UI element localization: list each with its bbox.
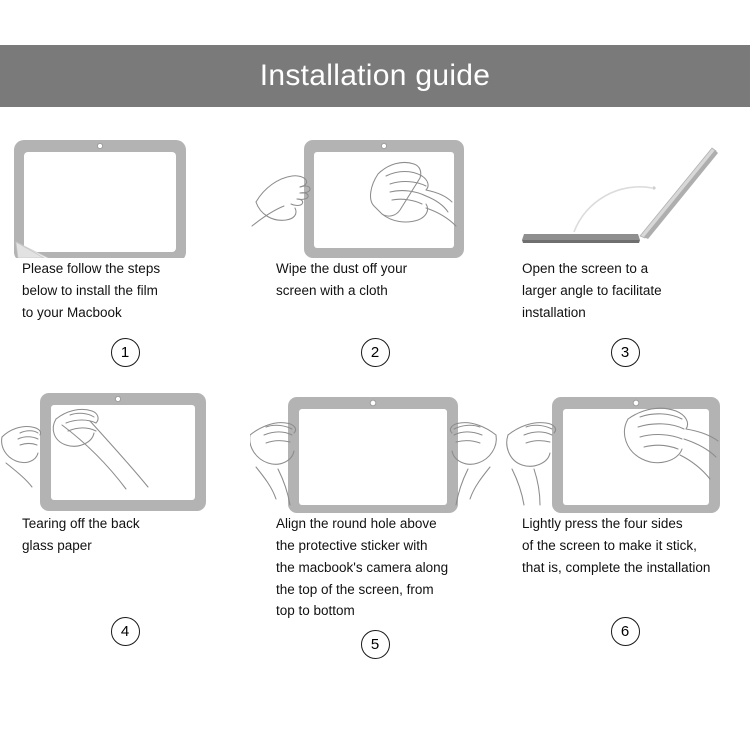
step-number-badge-3: 3: [611, 338, 640, 367]
step-1-caption: Please follow the steps below to install…: [0, 258, 168, 328]
step-4-illustration: [0, 385, 250, 513]
step-3-caption: Open the screen to a larger angle to fac…: [500, 258, 670, 328]
step-number-badge-5: 5: [361, 630, 390, 659]
step-card-5: Align the round hole above the protectiv…: [250, 385, 500, 659]
step-4-caption: Tearing off the back glass paper: [0, 513, 148, 609]
step-2-number-wrap: 2: [250, 338, 500, 367]
step-number-badge-2: 2: [361, 338, 390, 367]
step-6-number-wrap: 6: [500, 617, 750, 646]
step-3-number-wrap: 3: [500, 338, 750, 367]
step-card-4: Tearing off the back glass paper 4: [0, 385, 250, 659]
step-5-caption: Align the round hole above the protectiv…: [250, 513, 456, 622]
step-2-caption: Wipe the dust off your screen with a clo…: [250, 258, 415, 328]
step-6-illustration: [500, 385, 750, 513]
step-1-number-wrap: 1: [0, 338, 250, 367]
step-5-number-wrap: 5: [250, 630, 500, 659]
step-card-1: Please follow the steps below to install…: [0, 130, 250, 367]
steps-grid: Please follow the steps below to install…: [0, 130, 750, 659]
step-card-2: Wipe the dust off your screen with a clo…: [250, 130, 500, 367]
steps-row-1: Please follow the steps below to install…: [0, 130, 750, 367]
steps-row-2: Tearing off the back glass paper 4: [0, 385, 750, 659]
step-card-3: Open the screen to a larger angle to fac…: [500, 130, 750, 367]
page-title: Installation guide: [260, 61, 491, 91]
step-6-caption: Lightly press the four sides of the scre…: [500, 513, 718, 609]
step-2-illustration: [250, 130, 500, 258]
step-4-number-wrap: 4: [0, 617, 250, 646]
step-3-illustration: [500, 130, 750, 258]
step-5-illustration: [250, 385, 500, 513]
header-banner: Installation guide: [0, 45, 750, 107]
step-card-6: Lightly press the four sides of the scre…: [500, 385, 750, 659]
step-number-badge-4: 4: [111, 617, 140, 646]
step-number-badge-6: 6: [611, 617, 640, 646]
step-number-badge-1: 1: [111, 338, 140, 367]
installation-guide-page: Installation guide Please fo: [0, 0, 750, 750]
step-1-illustration: [0, 130, 250, 258]
